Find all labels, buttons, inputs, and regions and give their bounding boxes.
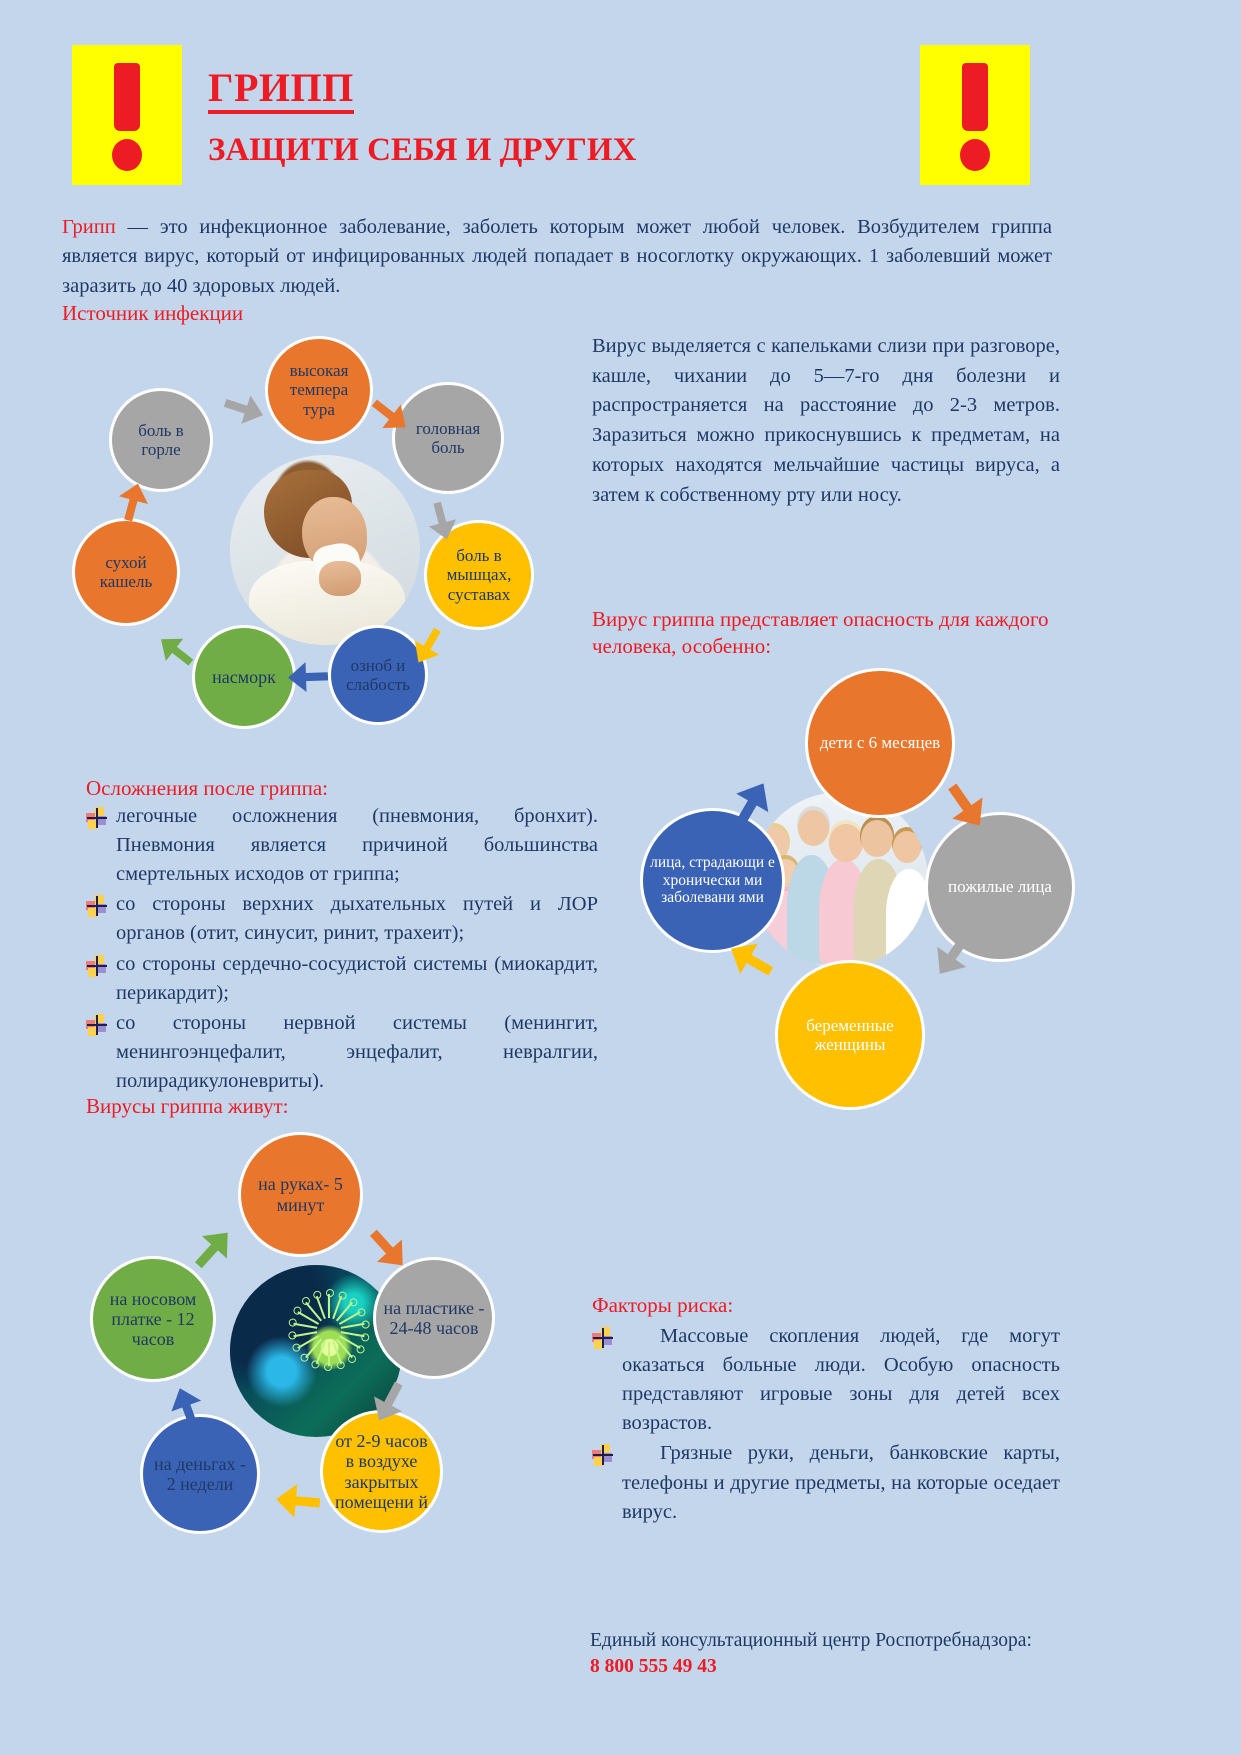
risk-group-node-1: пожилые лица — [925, 812, 1075, 962]
footer-phone: 8 800 555 49 43 — [590, 1654, 1060, 1680]
flow-arrow-sym0 — [220, 387, 269, 432]
risk-groups-diagram: дети с 6 месяцевпожилые лицабеременные ж… — [630, 660, 1050, 1100]
symptom-node-label: боль в горле — [112, 421, 210, 459]
complication-item: со стороны сердечно-сосудистой системы (… — [86, 950, 598, 1008]
symptom-node-5: сухой кашель — [72, 518, 180, 626]
bullet-marker-icon — [86, 895, 108, 917]
sick-woman-photo — [230, 455, 420, 645]
survival-node-label: от 2-9 часов в воздухе закрытых помещени… — [323, 1431, 440, 1512]
symptom-node-label: сухой кашель — [75, 553, 177, 591]
intro-body: — это инфекционное заболевание, заболеть… — [62, 216, 1052, 297]
complication-item: легочные осложнения (пневмония, бронхит)… — [86, 802, 598, 889]
poster-header: ГРИПП ЗАЩИТИ СЕБЯ И ДРУГИХ — [0, 0, 1241, 190]
survival-node-3: на деньгах - 2 недели — [140, 1414, 260, 1534]
symptom-node-3: озноб и слабость — [328, 625, 428, 725]
complications-list: легочные осложнения (пневмония, бронхит)… — [86, 802, 598, 1097]
bullet-marker-icon — [86, 1014, 108, 1036]
symptom-node-0: высокая темпера тура — [265, 336, 373, 444]
symptoms-diagram: высокая темпера тураголовная больболь в … — [65, 330, 585, 750]
page-title: ГРИПП — [208, 68, 354, 114]
symptom-node-1: головная боль — [392, 382, 504, 494]
page-subtitle: ЗАЩИТИ СЕБЯ И ДРУГИХ — [208, 134, 636, 167]
complications-heading: Осложнения после гриппа: — [86, 775, 328, 802]
complication-item-text: со стороны верхних дыхательных путей и Л… — [116, 890, 598, 948]
risk-group-node-label: беременные женщины — [778, 1016, 922, 1054]
symptom-node-4: насморк — [192, 625, 296, 729]
bullet-marker-icon — [592, 1444, 614, 1466]
poster-page: ГРИПП ЗАЩИТИ СЕБЯ И ДРУГИХ Грипп — это и… — [0, 0, 1241, 1755]
survival-heading: Вирусы гриппа живут: — [86, 1093, 289, 1120]
symptom-node-label: насморк — [206, 667, 282, 687]
risk-factor-item-text: Грязные руки, деньги, банковские карты, … — [622, 1439, 1060, 1526]
bullet-marker-icon — [86, 807, 108, 829]
bullet-marker-icon — [592, 1327, 614, 1349]
risk-group-node-label: дети с 6 месяцев — [814, 733, 946, 752]
survival-node-2: от 2-9 часов в воздухе закрытых помещени… — [320, 1410, 443, 1533]
survival-node-label: на пластике - 24-48 часов — [376, 1298, 492, 1339]
survival-node-label: на деньгах - 2 недели — [143, 1454, 257, 1495]
transmission-paragraph: Вирус выделяется с капельками слизи при … — [592, 332, 1060, 510]
bullet-marker-icon — [86, 955, 108, 977]
risk-group-node-label: лица, страдающи е хронически ми заболева… — [643, 854, 782, 907]
symptom-node-label: озноб и слабость — [331, 656, 425, 694]
symptom-node-label: боль в мышцах, суставах — [427, 546, 531, 604]
survival-diagram: на руках- 5 минутна пластике - 24-48 час… — [78, 1122, 548, 1562]
survival-node-label: на руках- 5 минут — [241, 1174, 360, 1215]
exclamation-bar — [962, 63, 988, 131]
risk-factors-list: Массовые скопления людей, где могут оказ… — [592, 1322, 1060, 1528]
risk-group-node-label: пожилые лица — [942, 877, 1058, 896]
risk-groups-heading: Вирус гриппа представляет опасность для … — [592, 606, 1062, 661]
complication-item-text: со стороны нервной системы (менингит, ме… — [116, 1009, 598, 1096]
risk-factors-heading: Факторы риска: — [592, 1292, 733, 1319]
exclamation-mark-icon-left — [72, 45, 182, 185]
exclamation-dot — [960, 139, 990, 171]
symptom-node-6: боль в горле — [109, 388, 213, 492]
symptom-node-label: высокая темпера тура — [268, 361, 370, 419]
symptom-node-2: боль в мышцах, суставах — [424, 520, 534, 630]
risk-group-node-2: беременные женщины — [775, 960, 925, 1110]
survival-node-1: на пластике - 24-48 часов — [373, 1257, 495, 1379]
exclamation-dot — [112, 139, 142, 171]
survival-node-4: на носовом платке - 12 часов — [90, 1256, 216, 1382]
complication-item-text: легочные осложнения (пневмония, бронхит)… — [116, 802, 598, 889]
risk-factor-item: Массовые скопления людей, где могут оказ… — [592, 1322, 1060, 1438]
intro-paragraph: Грипп — это инфекционное заболевание, за… — [62, 213, 1052, 302]
symptoms-heading: Источник инфекции — [62, 300, 243, 327]
symptom-node-label: головная боль — [395, 419, 501, 457]
risk-group-node-3: лица, страдающи е хронически ми заболева… — [640, 808, 785, 953]
risk-factor-item: Грязные руки, деньги, банковские карты, … — [592, 1439, 1060, 1526]
intro-highlight: Грипп — [62, 216, 116, 238]
risk-group-node-0: дети с 6 месяцев — [805, 668, 955, 818]
risk-factor-item-text: Массовые скопления людей, где могут оказ… — [622, 1322, 1060, 1438]
exclamation-bar — [114, 63, 140, 131]
survival-node-label: на носовом платке - 12 часов — [93, 1289, 213, 1350]
exclamation-mark-icon-right — [920, 45, 1030, 185]
flow-arrow-sv2 — [274, 1480, 321, 1522]
footer: Единый консультационный центр Роспотребн… — [590, 1628, 1060, 1681]
survival-node-0: на руках- 5 минут — [238, 1132, 363, 1257]
complication-item-text: со стороны сердечно-сосудистой системы (… — [116, 950, 598, 1008]
footer-line: Единый консультационный центр Роспотребн… — [590, 1628, 1060, 1654]
complication-item: со стороны верхних дыхательных путей и Л… — [86, 890, 598, 948]
complication-item: со стороны нервной системы (менингит, ме… — [86, 1009, 598, 1096]
